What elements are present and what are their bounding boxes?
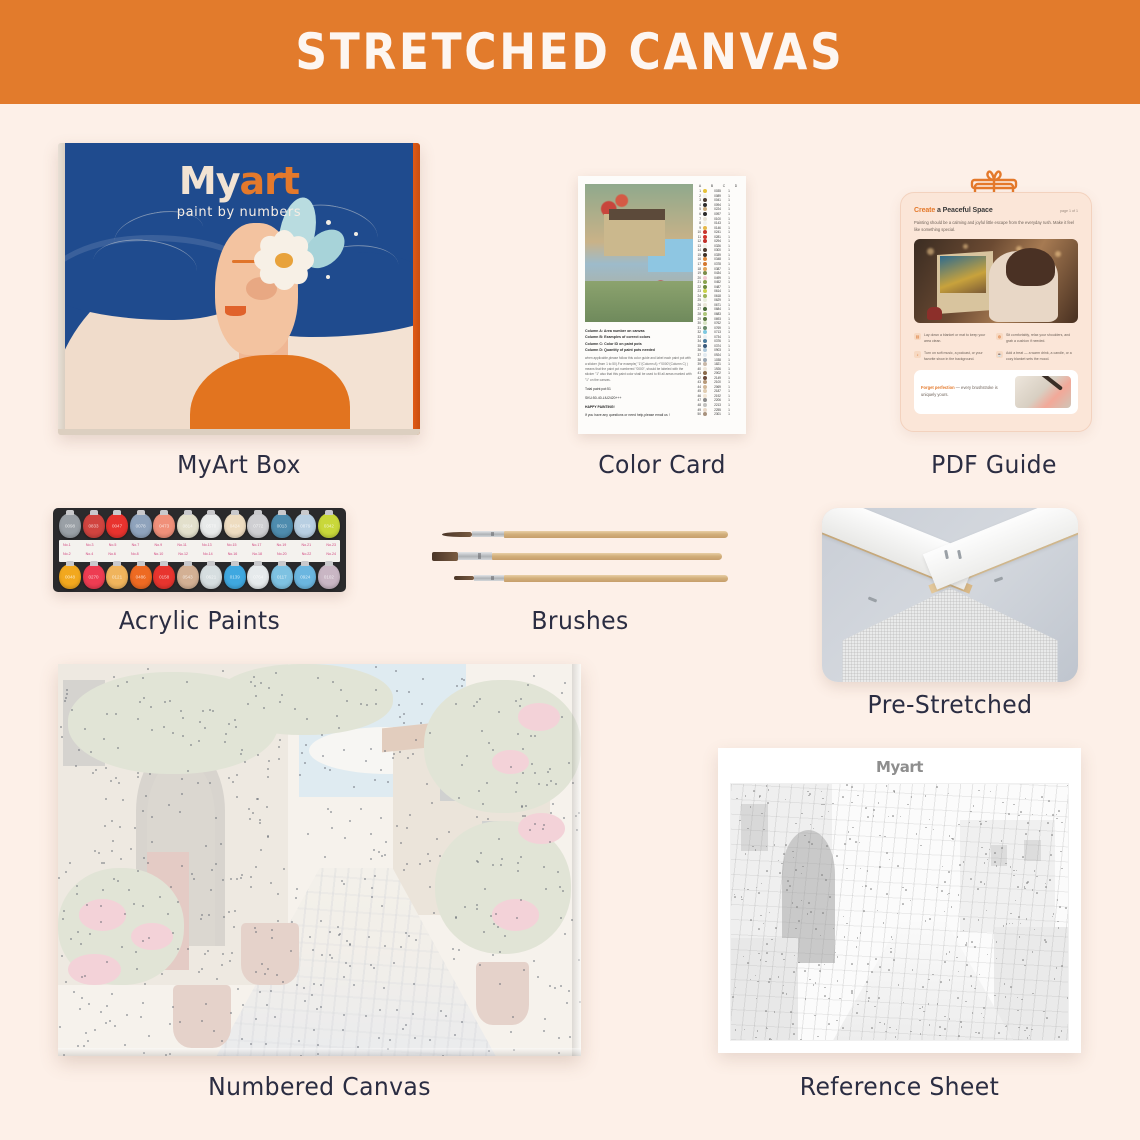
page-header: STRETCHED CANVAS xyxy=(0,0,1140,104)
sparkle-dot xyxy=(354,232,358,236)
paint-pot: 0048 xyxy=(59,564,81,589)
staple-icon xyxy=(993,576,1002,582)
swatch-row: 5023011 xyxy=(694,412,742,417)
reference-sheet-logo: Myart xyxy=(730,758,1069,776)
paint-pot: 0102 xyxy=(318,564,340,589)
color-swatch-table: A B C D 10035120089130041140094150224160… xyxy=(694,184,742,416)
legend-instructions: when applicable,please follow this color… xyxy=(585,356,693,383)
brushes-image xyxy=(432,528,728,590)
myart-box-image: Myart paint by numbers xyxy=(58,143,420,435)
pdf-tip-item: ☕Add a treat — a warm drink, a candle, o… xyxy=(996,348,1078,366)
paint-pot: 0342 xyxy=(318,513,340,538)
paint-pot: 0047 xyxy=(106,513,128,538)
blanket-icon: ▤ xyxy=(914,333,921,340)
logo-art-text: art xyxy=(240,159,300,203)
caption-reference-sheet: Reference Sheet xyxy=(729,1072,1070,1101)
legend-line-a: Column A: Area number on canvas xyxy=(585,329,645,333)
pdf-intro-text: Painting should be a calming and joyful … xyxy=(914,219,1078,233)
pdf-tips-list: ▤Lay down a blanket or mat to keep your … xyxy=(914,330,1078,365)
swatch-col-d: D xyxy=(730,184,742,188)
paint-pot: 0833 xyxy=(83,513,105,538)
paint-pot-row-top: 0098083300470078047308140570042407720013… xyxy=(59,513,340,538)
paint-pot: 0772 xyxy=(247,513,269,538)
swatch-col-c: C xyxy=(718,184,730,188)
canvas-scene xyxy=(58,664,581,1056)
pdf-tip-text: Add a treat — a warm drink, a candle, or… xyxy=(1006,351,1074,363)
drink-icon: ☕ xyxy=(996,351,1003,358)
pdf-guide-image: Create a Peaceful Space page 1 of 1 Pain… xyxy=(900,192,1092,432)
paint-pot: 0570 xyxy=(200,513,222,538)
caption-brushes: Brushes xyxy=(441,606,719,635)
box-front-face: Myart paint by numbers xyxy=(65,143,413,429)
pdf-tip-text: Sit comfortably, relax your shoulders, a… xyxy=(1006,333,1074,345)
numbered-canvas-image xyxy=(58,664,581,1056)
swatch-col-a: A xyxy=(694,184,706,188)
music-icon: ♪ xyxy=(914,351,921,358)
legend-line-c: Column C: Color ID on paint pots xyxy=(585,342,642,346)
paint-pot: 0270 xyxy=(83,564,105,589)
paint-pot-row-bottom: 0048027001210486015805430621013907640117… xyxy=(59,564,340,589)
caption-acrylic-paints: Acrylic Paints xyxy=(62,606,337,635)
pdf-tip-text: Turn on soft music, a podcast, or your f… xyxy=(924,351,992,363)
staple-icon xyxy=(868,597,877,603)
reference-sheet-image: Myart xyxy=(718,748,1081,1053)
color-card-image: Column A: Area number on canvas Column B… xyxy=(578,176,746,434)
pdf-note-photo xyxy=(1015,376,1071,408)
color-card-legend: Column A: Area number on canvas Column B… xyxy=(585,328,693,418)
pdf-tip-item: ◍Sit comfortably, relax your shoulders, … xyxy=(996,330,1078,348)
legend-total-pots: Total paint pot:51 xyxy=(585,386,693,392)
logo-my-text: My xyxy=(179,159,240,203)
paint-pot: 0924 xyxy=(294,564,316,589)
paint-pot: 0473 xyxy=(153,513,175,538)
paint-pot: 0158 xyxy=(153,564,175,589)
pdf-note-box: Forget perfection — every brushstroke is… xyxy=(914,370,1078,414)
caption-numbered-canvas: Numbered Canvas xyxy=(74,1072,566,1101)
acrylic-paints-image: 0098083300470078047308140570042407720013… xyxy=(53,508,346,592)
sticker-numbers-bottom: No.2No.4No.6No.8No.10No.12No.14No.16No.1… xyxy=(63,552,336,556)
paint-pot: 0098 xyxy=(59,513,81,538)
pdf-tip-item: ♪Turn on soft music, a podcast, or your … xyxy=(914,348,996,366)
paint-pot: 0543 xyxy=(177,564,199,589)
pdf-photo-woman-painting xyxy=(914,239,1078,323)
lip-shape xyxy=(225,306,246,316)
daisy-flower-icon xyxy=(256,237,312,283)
pdf-tip-text: Lay down a blanket or mat to keep your a… xyxy=(924,333,992,345)
box-right-edge xyxy=(413,143,420,435)
color-card-preview-painting xyxy=(585,184,693,322)
legend-contact: If you have any questions or need help,p… xyxy=(585,412,693,418)
swatch-col-b: B xyxy=(706,184,718,188)
paint-pot: 0139 xyxy=(224,564,246,589)
paint-pot: 0121 xyxy=(106,564,128,589)
page-title: STRETCHED CANVAS xyxy=(296,23,845,81)
legend-line-d: Column D: Quantity of paint pots needed xyxy=(585,348,655,352)
caption-pdf-guide: PDF Guide xyxy=(879,450,1108,479)
paint-pot: 0621 xyxy=(200,564,222,589)
myart-logo: Myart paint by numbers xyxy=(65,159,413,220)
logo-tagline: paint by numbers xyxy=(65,205,413,220)
caption-myart-box: MyArt Box xyxy=(69,450,409,479)
brush-flat xyxy=(432,552,722,560)
cushion-icon: ◍ xyxy=(996,333,1003,340)
legend-happy-painting: HAPPY PAINTING! xyxy=(585,405,693,409)
caption-pre-stretched: Pre-Stretched xyxy=(830,690,1071,719)
paint-pot: 0424 xyxy=(224,513,246,538)
paint-pot: 0814 xyxy=(177,513,199,538)
brush-small-flat xyxy=(454,574,728,582)
pdf-title-accent: Create xyxy=(914,207,935,214)
reference-sheet-artwork xyxy=(730,783,1069,1041)
paint-pot: 0078 xyxy=(130,513,152,538)
box-bottom-edge xyxy=(58,429,420,435)
sticker-numbers-top: No.1No.3No.5No.7No.9No.11No.13No.15No.17… xyxy=(63,543,336,547)
caption-color-card: Color Card xyxy=(547,450,776,479)
pdf-tip-item: ▤Lay down a blanket or mat to keep your … xyxy=(914,330,996,348)
paint-pot: 0764 xyxy=(247,564,269,589)
legend-sku: SKU:50-40-LIU2420+++ xyxy=(585,395,693,401)
paint-pot: 0013 xyxy=(271,513,293,538)
paint-pot: 0486 xyxy=(130,564,152,589)
brush-round xyxy=(442,530,728,538)
paint-pot: 0879 xyxy=(294,513,316,538)
paint-sticker-strip: No.1No.3No.5No.7No.9No.11No.13No.15No.17… xyxy=(59,540,340,562)
paint-pot: 0117 xyxy=(271,564,293,589)
sparkle-dot xyxy=(326,275,330,279)
pdf-header: Create a Peaceful Space page 1 of 1 xyxy=(914,207,1078,214)
pre-stretched-image xyxy=(822,508,1078,682)
box-left-edge xyxy=(58,143,65,435)
pdf-title-rest: a Peaceful Space xyxy=(935,207,992,214)
pdf-note-accent: Forget perfection xyxy=(921,385,955,390)
pdf-page-label: page 1 of 1 xyxy=(1060,209,1078,213)
legend-line-b: Column B: Examples of correct colors xyxy=(585,335,650,339)
